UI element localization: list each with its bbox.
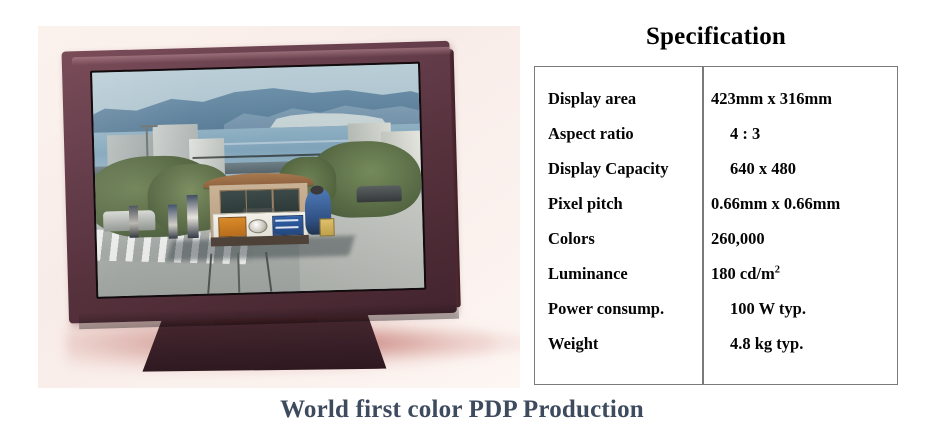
spec-label: Aspect ratio <box>535 124 702 144</box>
pdp-monitor <box>55 34 476 385</box>
spec-label: Luminance <box>535 264 702 284</box>
spec-value: 260,000 <box>702 229 897 249</box>
slide-caption: World first color PDP Production <box>0 396 940 424</box>
cablecar-headlamp <box>248 219 267 233</box>
spec-label: Colors <box>535 229 702 249</box>
slide-caption-text: World first color PDP Production <box>280 396 644 423</box>
slide-root: Specification Display area 423mm x 316mm… <box>0 0 940 436</box>
table-row: Weight 4.8 kg typ. <box>535 326 897 361</box>
spec-label: Pixel pitch <box>535 194 702 214</box>
table-row: Display area 423mm x 316mm <box>535 81 897 116</box>
cablecar-yellow-sign <box>320 218 336 236</box>
spec-value: 4 : 3 <box>702 124 897 144</box>
spec-value: 4.8 kg typ. <box>702 334 897 354</box>
spec-value: 180 cd/m2 <box>702 264 897 284</box>
table-row: Aspect ratio 4 : 3 <box>535 116 897 151</box>
table-row: Power consump. 100 W typ. <box>535 291 897 326</box>
spec-heading: Specification <box>534 23 898 51</box>
spec-value: 640 x 480 <box>702 159 897 179</box>
spec-table: Display area 423mm x 316mm Aspect ratio … <box>534 66 898 385</box>
spec-label: Display area <box>535 89 702 109</box>
spec-value-text: 180 cd/m <box>711 264 775 283</box>
scene-pedestrian-2 <box>168 205 179 239</box>
spec-label: Weight <box>535 334 702 354</box>
scene-car-right <box>356 185 402 202</box>
spec-value-superscript: 2 <box>775 264 780 275</box>
table-row: Pixel pitch 0.66mm x 0.66mm <box>535 186 897 221</box>
spec-label: Power consump. <box>535 299 702 319</box>
cablecar-ad-blue <box>272 215 304 236</box>
table-row: Display Capacity 640 x 480 <box>535 151 897 186</box>
cablecar-rider-head <box>310 185 323 194</box>
display-screen <box>92 64 424 297</box>
table-row: Luminance 180 cd/m2 <box>535 256 897 291</box>
cablecar-ad-orange <box>218 216 247 237</box>
spec-label: Display Capacity <box>535 159 702 179</box>
scene-pedestrian-1 <box>187 195 199 238</box>
spec-value: 100 W typ. <box>702 299 897 319</box>
spec-value: 423mm x 316mm <box>702 89 897 109</box>
scene-pedestrian-3 <box>128 206 139 238</box>
table-row: Colors 260,000 <box>535 221 897 256</box>
spec-value: 0.66mm x 0.66mm <box>702 194 897 214</box>
product-photo <box>38 26 520 388</box>
